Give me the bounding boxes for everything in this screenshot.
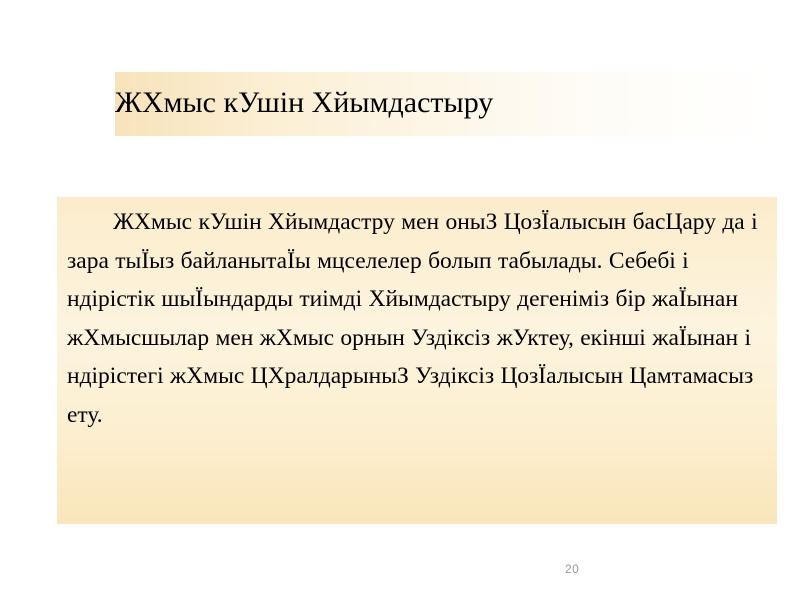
page-number: 20 xyxy=(565,562,579,576)
title-banner: ЖХмыс кУшін Хйымдастыру xyxy=(115,72,777,136)
page-title: ЖХмыс кУшін Хйымдастыру xyxy=(115,87,493,119)
slide-canvas: ЖХмыс кУшін Хйымдастыру ЖХмыс кУшін Хйым… xyxy=(0,0,800,600)
body-content-box: ЖХмыс кУшін Хйымдастру мен оныЗ ЦозЇалыс… xyxy=(57,197,777,524)
body-paragraph: ЖХмыс кУшін Хйымдастру мен оныЗ ЦозЇалыс… xyxy=(67,203,771,434)
